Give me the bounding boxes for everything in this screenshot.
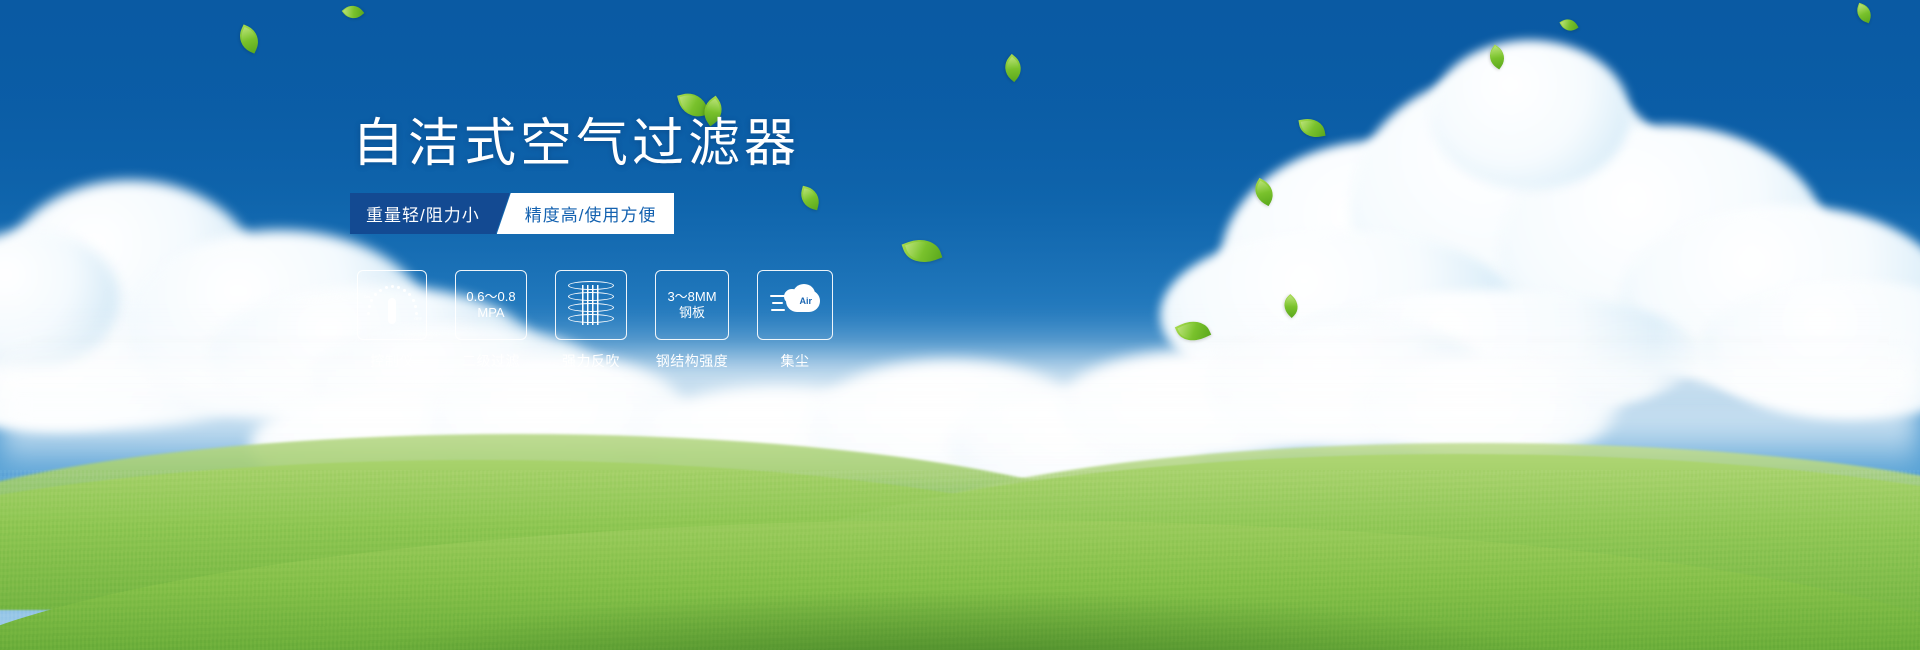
feature-item-two-stage-filter[interactable]: 0.6～0.8 MPA 二级过滤 xyxy=(455,270,527,371)
filter-stack-icon xyxy=(568,281,614,329)
gauge-off-label: OFF xyxy=(414,316,422,321)
feature-box-backblow xyxy=(555,270,627,340)
gauge-icon: ON OFF xyxy=(364,282,420,328)
air-label-text: Air xyxy=(799,296,812,307)
feature-item-steel-strength[interactable]: 3～8MM 钢板 钢结构强度 xyxy=(655,270,729,371)
pressure-value-text: 0.6～0.8 MPA xyxy=(466,289,515,322)
feature-label-backblow: 强力反吹 xyxy=(562,351,620,371)
banner-content: 自洁式空气过滤器 重量轻/阻力小 精度高/使用方便 xyxy=(0,0,1920,650)
feature-icon-list: ON OFF 控制仪 0.6～0.8 MPA 二级过滤 xyxy=(357,270,833,371)
feature-box-controller: ON OFF xyxy=(357,270,427,340)
tab-high-precision-easy-use[interactable]: 精度高/使用方便 xyxy=(497,193,675,234)
feature-item-dust-collection[interactable]: Air 集尘 xyxy=(757,270,833,371)
feature-box-pressure: 0.6～0.8 MPA xyxy=(455,270,527,340)
gauge-on-label: ON xyxy=(364,294,370,299)
feature-label-steel-strength: 钢结构强度 xyxy=(656,351,729,371)
air-cloud-icon: Air xyxy=(770,284,820,326)
tab-lightweight-low-resistance[interactable]: 重量轻/阻力小 xyxy=(350,193,510,234)
banner-stage: 自洁式空气过滤器 重量轻/阻力小 精度高/使用方便 xyxy=(0,0,1920,650)
feature-box-air: Air xyxy=(757,270,833,340)
feature-label-two-stage-filter: 二级过滤 xyxy=(462,351,520,371)
feature-item-controller[interactable]: ON OFF 控制仪 xyxy=(357,270,427,371)
feature-tabs: 重量轻/阻力小 精度高/使用方便 xyxy=(350,193,674,234)
feature-box-steel: 3～8MM 钢板 xyxy=(655,270,729,340)
feature-label-controller: 控制仪 xyxy=(370,351,414,371)
feature-label-dust-collection: 集尘 xyxy=(781,351,810,371)
page-title: 自洁式空气过滤器 xyxy=(352,118,800,170)
gauge-needle xyxy=(388,298,396,324)
feature-item-backblow[interactable]: 强力反吹 xyxy=(555,270,627,371)
steel-value-text: 3～8MM 钢板 xyxy=(667,289,716,322)
